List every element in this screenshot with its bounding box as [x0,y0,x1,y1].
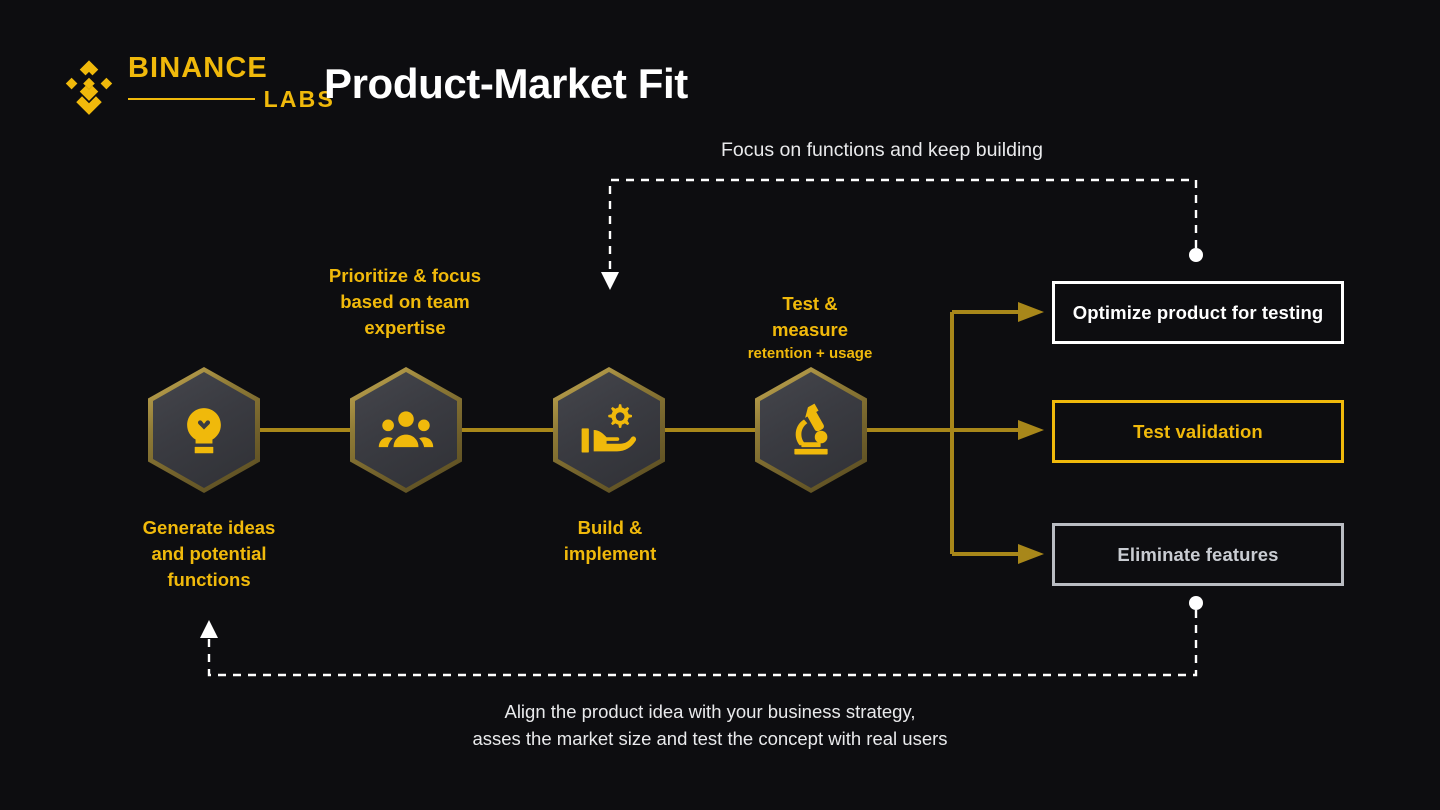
top-feedback-label-wrap: Focus on functions and keep building [0,137,1440,163]
page-title: Product-Market Fit [324,58,688,110]
binance-diamond-logo-icon [60,58,118,116]
arrowhead-validate [1018,420,1044,440]
step-caption-generate: Generate ideas and potential functions [104,515,314,593]
bottom-loop-arrowhead [200,620,218,638]
step-caption-prioritize: Prioritize & focus based on team experti… [305,263,505,341]
top-loop-dashed-path [610,180,1196,272]
arrowhead-optimize [1018,302,1044,322]
bottom-feedback-line1: Align the product idea with your busines… [472,698,947,725]
bottom-feedback-label: Align the product idea with your busines… [472,698,947,752]
logo-brand-name: BINANCE [128,52,344,84]
logo-divider-rule [128,98,255,100]
outcome-label-eliminate: Eliminate features [1117,544,1278,566]
top-feedback-label: Focus on functions and keep building [721,137,1043,163]
logo-wordmark: BINANCE LABS [128,52,344,111]
bottom-feedback-line2: asses the market size and test the conce… [472,725,947,752]
binance-labs-logo: BINANCE LABS [60,52,300,120]
step-node-build[interactable] [553,367,665,493]
slide-header: BINANCE LABS Product-Market Fit [0,0,1440,150]
outcome-box-eliminate[interactable]: Eliminate features [1052,523,1344,586]
logo-sub-row: LABS [128,87,335,111]
people-group-icon [350,367,462,493]
hand-gear-icon [553,367,665,493]
top-loop-origin-dot [1189,248,1203,262]
outcome-box-optimize[interactable]: Optimize product for testing [1052,281,1344,344]
outcome-label-optimize: Optimize product for testing [1073,302,1324,324]
step-node-test[interactable] [755,367,867,493]
top-loop-arrowhead [601,272,619,290]
arrowhead-eliminate [1018,544,1044,564]
slide-canvas: BINANCE LABS Product-Market Fit Focus on… [0,0,1440,810]
bottom-feedback-label-wrap: Align the product idea with your busines… [0,698,1440,752]
step-caption-test-main: Test & measure [772,293,848,340]
lightbulb-icon [148,367,260,493]
bottom-loop-origin-dot [1189,596,1203,610]
microscope-icon [755,367,867,493]
step-node-prioritize[interactable] [350,367,462,493]
step-caption-build: Build & implement [510,515,710,567]
bottom-loop-dashed-path [209,610,1196,675]
step-caption-test-sub: retention + usage [710,343,910,364]
outcome-label-validate: Test validation [1133,421,1263,443]
step-node-generate[interactable] [148,367,260,493]
outcome-box-validate[interactable]: Test validation [1052,400,1344,463]
